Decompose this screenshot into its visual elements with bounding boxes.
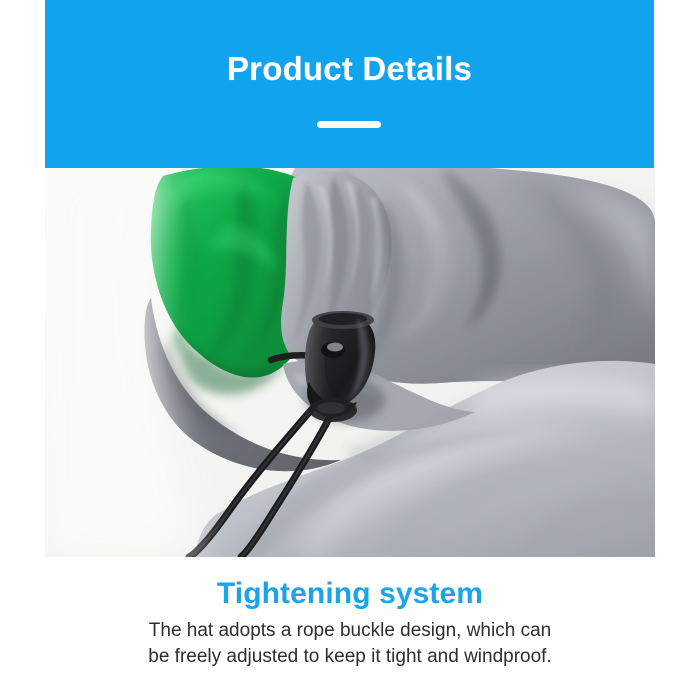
caption-body-line-1: The hat adopts a rope buckle design, whi… [0, 618, 700, 644]
caption-body-line-2: be freely adjusted to keep it tight and … [0, 644, 700, 670]
caption-heading: Tightening system [0, 575, 700, 612]
header-banner: Product Details [45, 0, 654, 168]
product-details-page: Product Details [0, 0, 700, 700]
product-photo [45, 168, 655, 557]
horizontal-rule-icon [317, 121, 381, 128]
product-photo-illustration [45, 168, 655, 557]
caption-block: Tightening system The hat adopts a rope … [0, 575, 700, 670]
caption-body: The hat adopts a rope buckle design, whi… [0, 618, 700, 670]
page-title: Product Details [45, 49, 654, 89]
